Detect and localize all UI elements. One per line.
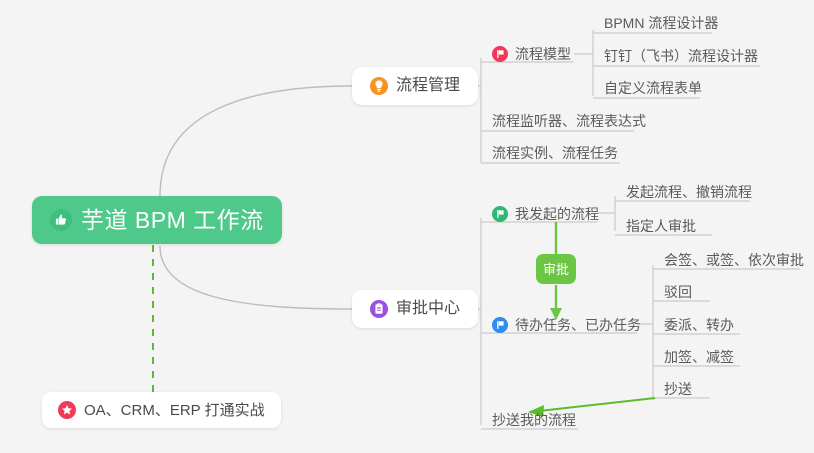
leaf-label-process-instance: 流程实例、流程任务 [492,146,618,160]
leaf-dingtalk-designer[interactable]: 钉钉（飞书）流程设计器 [604,45,758,67]
leaf-label-custom-form: 自定义流程表单 [604,81,702,95]
leaf-label-countersign: 会签、或签、依次审批 [664,253,804,267]
curve-to-process-management [160,86,352,196]
leaf-cc[interactable]: 抄送 [664,378,692,400]
group-label-my-started: 我发起的流程 [515,207,599,221]
leaf-delegate-transfer[interactable]: 委派、转办 [664,314,734,336]
approval-flow-badge-label: 审批 [543,263,569,276]
mindmap-canvas: 芋道 BPM 工作流 流程管理 流程模型 BPMN 流程设计器 钉钉（飞书）流程 [0,0,814,453]
bottom-card-integration[interactable]: OA、CRM、ERP 打通实战 [42,392,281,428]
group-node-my-started[interactable]: 我发起的流程 [492,203,599,225]
leaf-label-dingtalk-designer: 钉钉（飞书）流程设计器 [604,49,758,63]
curve-to-approval-center [160,246,352,309]
group-label-todo-done: 待办任务、已办任务 [515,318,641,332]
leaf-label-assignee-approve: 指定人审批 [626,219,696,233]
leaf-process-listener[interactable]: 流程监听器、流程表达式 [492,110,646,132]
branch-node-approval-center[interactable]: 审批中心 [352,290,478,328]
leaf-label-add-remove-sign: 加签、减签 [664,350,734,364]
group-node-process-model[interactable]: 流程模型 [492,43,571,65]
lightbulb-icon [370,77,388,95]
group-node-todo-done[interactable]: 待办任务、已办任务 [492,314,641,336]
leaf-label-process-listener: 流程监听器、流程表达式 [492,114,646,128]
leaf-label-cc-to-me: 抄送我的流程 [492,413,576,427]
leaf-add-remove-sign[interactable]: 加签、减签 [664,346,734,368]
clipboard-icon [370,300,388,318]
leaf-custom-form[interactable]: 自定义流程表单 [604,77,702,99]
leaf-cc-to-me[interactable]: 抄送我的流程 [492,409,576,431]
leaf-process-instance[interactable]: 流程实例、流程任务 [492,142,618,164]
group-label-process-model: 流程模型 [515,47,571,61]
leaf-bpmn-designer[interactable]: BPMN 流程设计器 [604,12,718,34]
flag-icon [492,317,508,333]
root-node[interactable]: 芋道 BPM 工作流 [32,196,282,244]
leaf-label-start-cancel-process: 发起流程、撤销流程 [626,185,752,199]
leaf-label-bpmn-designer: BPMN 流程设计器 [604,16,718,30]
branch-node-process-management[interactable]: 流程管理 [352,67,478,105]
leaf-reject[interactable]: 驳回 [664,281,692,303]
thumbs-up-icon [50,209,72,231]
leaf-label-delegate-transfer: 委派、转办 [664,318,734,332]
leaf-countersign[interactable]: 会签、或签、依次审批 [664,249,804,271]
bottom-card-label: OA、CRM、ERP 打通实战 [84,403,265,418]
flag-icon [492,46,508,62]
star-icon [58,401,76,419]
leaf-start-cancel-process[interactable]: 发起流程、撤销流程 [626,181,752,203]
flag-icon [492,206,508,222]
branch-label-process-management: 流程管理 [396,78,460,94]
leaf-label-reject: 驳回 [664,285,692,299]
root-label: 芋道 BPM 工作流 [81,209,264,232]
leaf-label-cc: 抄送 [664,382,692,396]
leaf-assignee-approve[interactable]: 指定人审批 [626,215,696,237]
approval-flow-badge: 审批 [536,254,576,284]
branch-label-approval-center: 审批中心 [396,301,460,317]
